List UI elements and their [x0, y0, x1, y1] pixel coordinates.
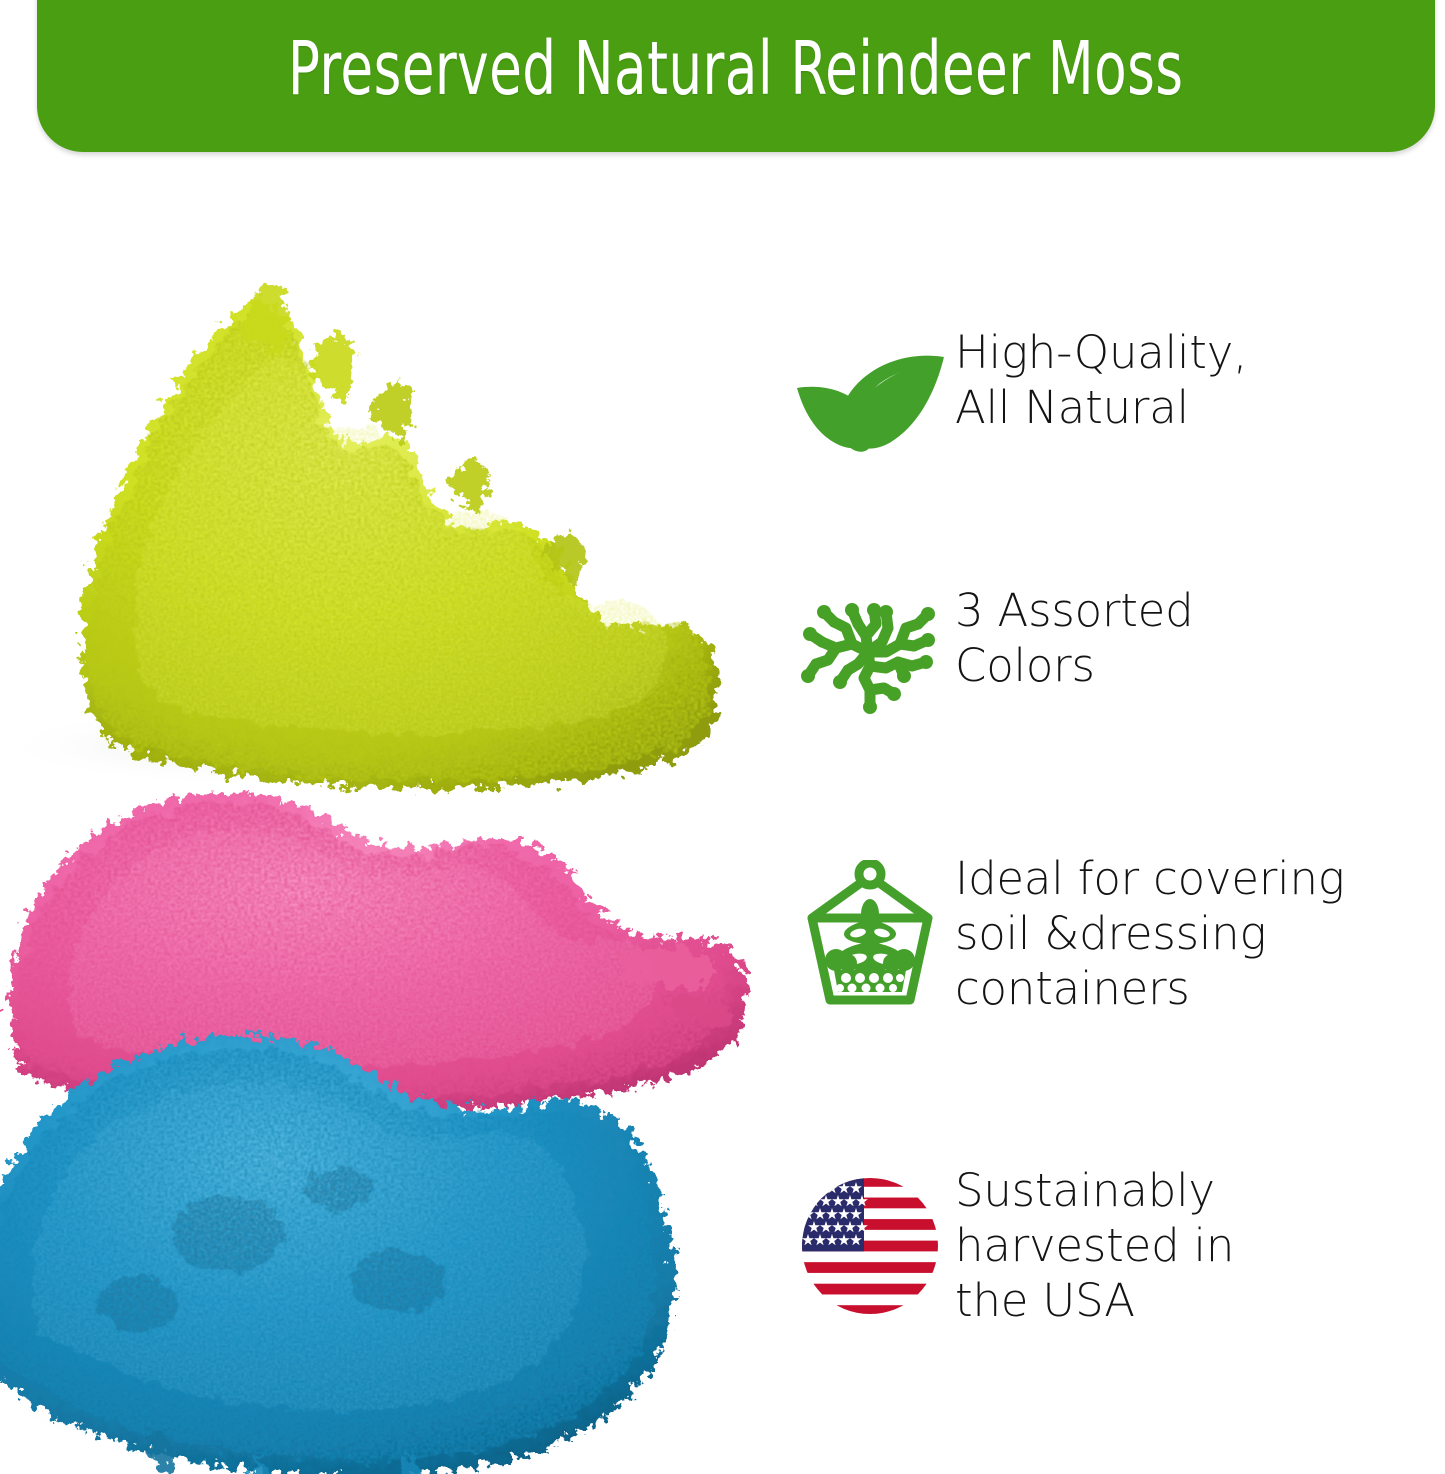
coral-moss-icon [795, 584, 945, 714]
feature-item-high-quality: High-Quality, All Natural [795, 326, 1445, 460]
feature-list: High-Quality, All Natural [795, 318, 1445, 1378]
feature-label-high-quality: High-Quality, All Natural [945, 326, 1445, 436]
header-banner: Preserved Natural Reindeer Moss [37, 0, 1435, 152]
feature-label-usa-harvested: Sustainably harvested in the USA [945, 1164, 1445, 1329]
product-infographic: Preserved Natural Reindeer Moss [0, 0, 1445, 1474]
feature-label-ideal-for-covering: Ideal for covering soil &dressing contai… [945, 852, 1445, 1017]
usa-flag-circle-icon [795, 1164, 945, 1316]
feature-label-assorted-colors: 3 Assorted Colors [945, 584, 1445, 694]
feature-item-ideal-for-covering: Ideal for covering soil &dressing contai… [795, 852, 1445, 1017]
hanging-planter-basket-icon [795, 852, 945, 1010]
two-leaves-icon [795, 326, 945, 460]
product-photo [0, 186, 778, 1474]
page-title: Preserved Natural Reindeer Moss [288, 26, 1183, 112]
feature-item-usa-harvested: Sustainably harvested in the USA [795, 1164, 1445, 1329]
feature-item-assorted-colors: 3 Assorted Colors [795, 584, 1445, 714]
moss-pile-illustration [0, 186, 778, 1474]
